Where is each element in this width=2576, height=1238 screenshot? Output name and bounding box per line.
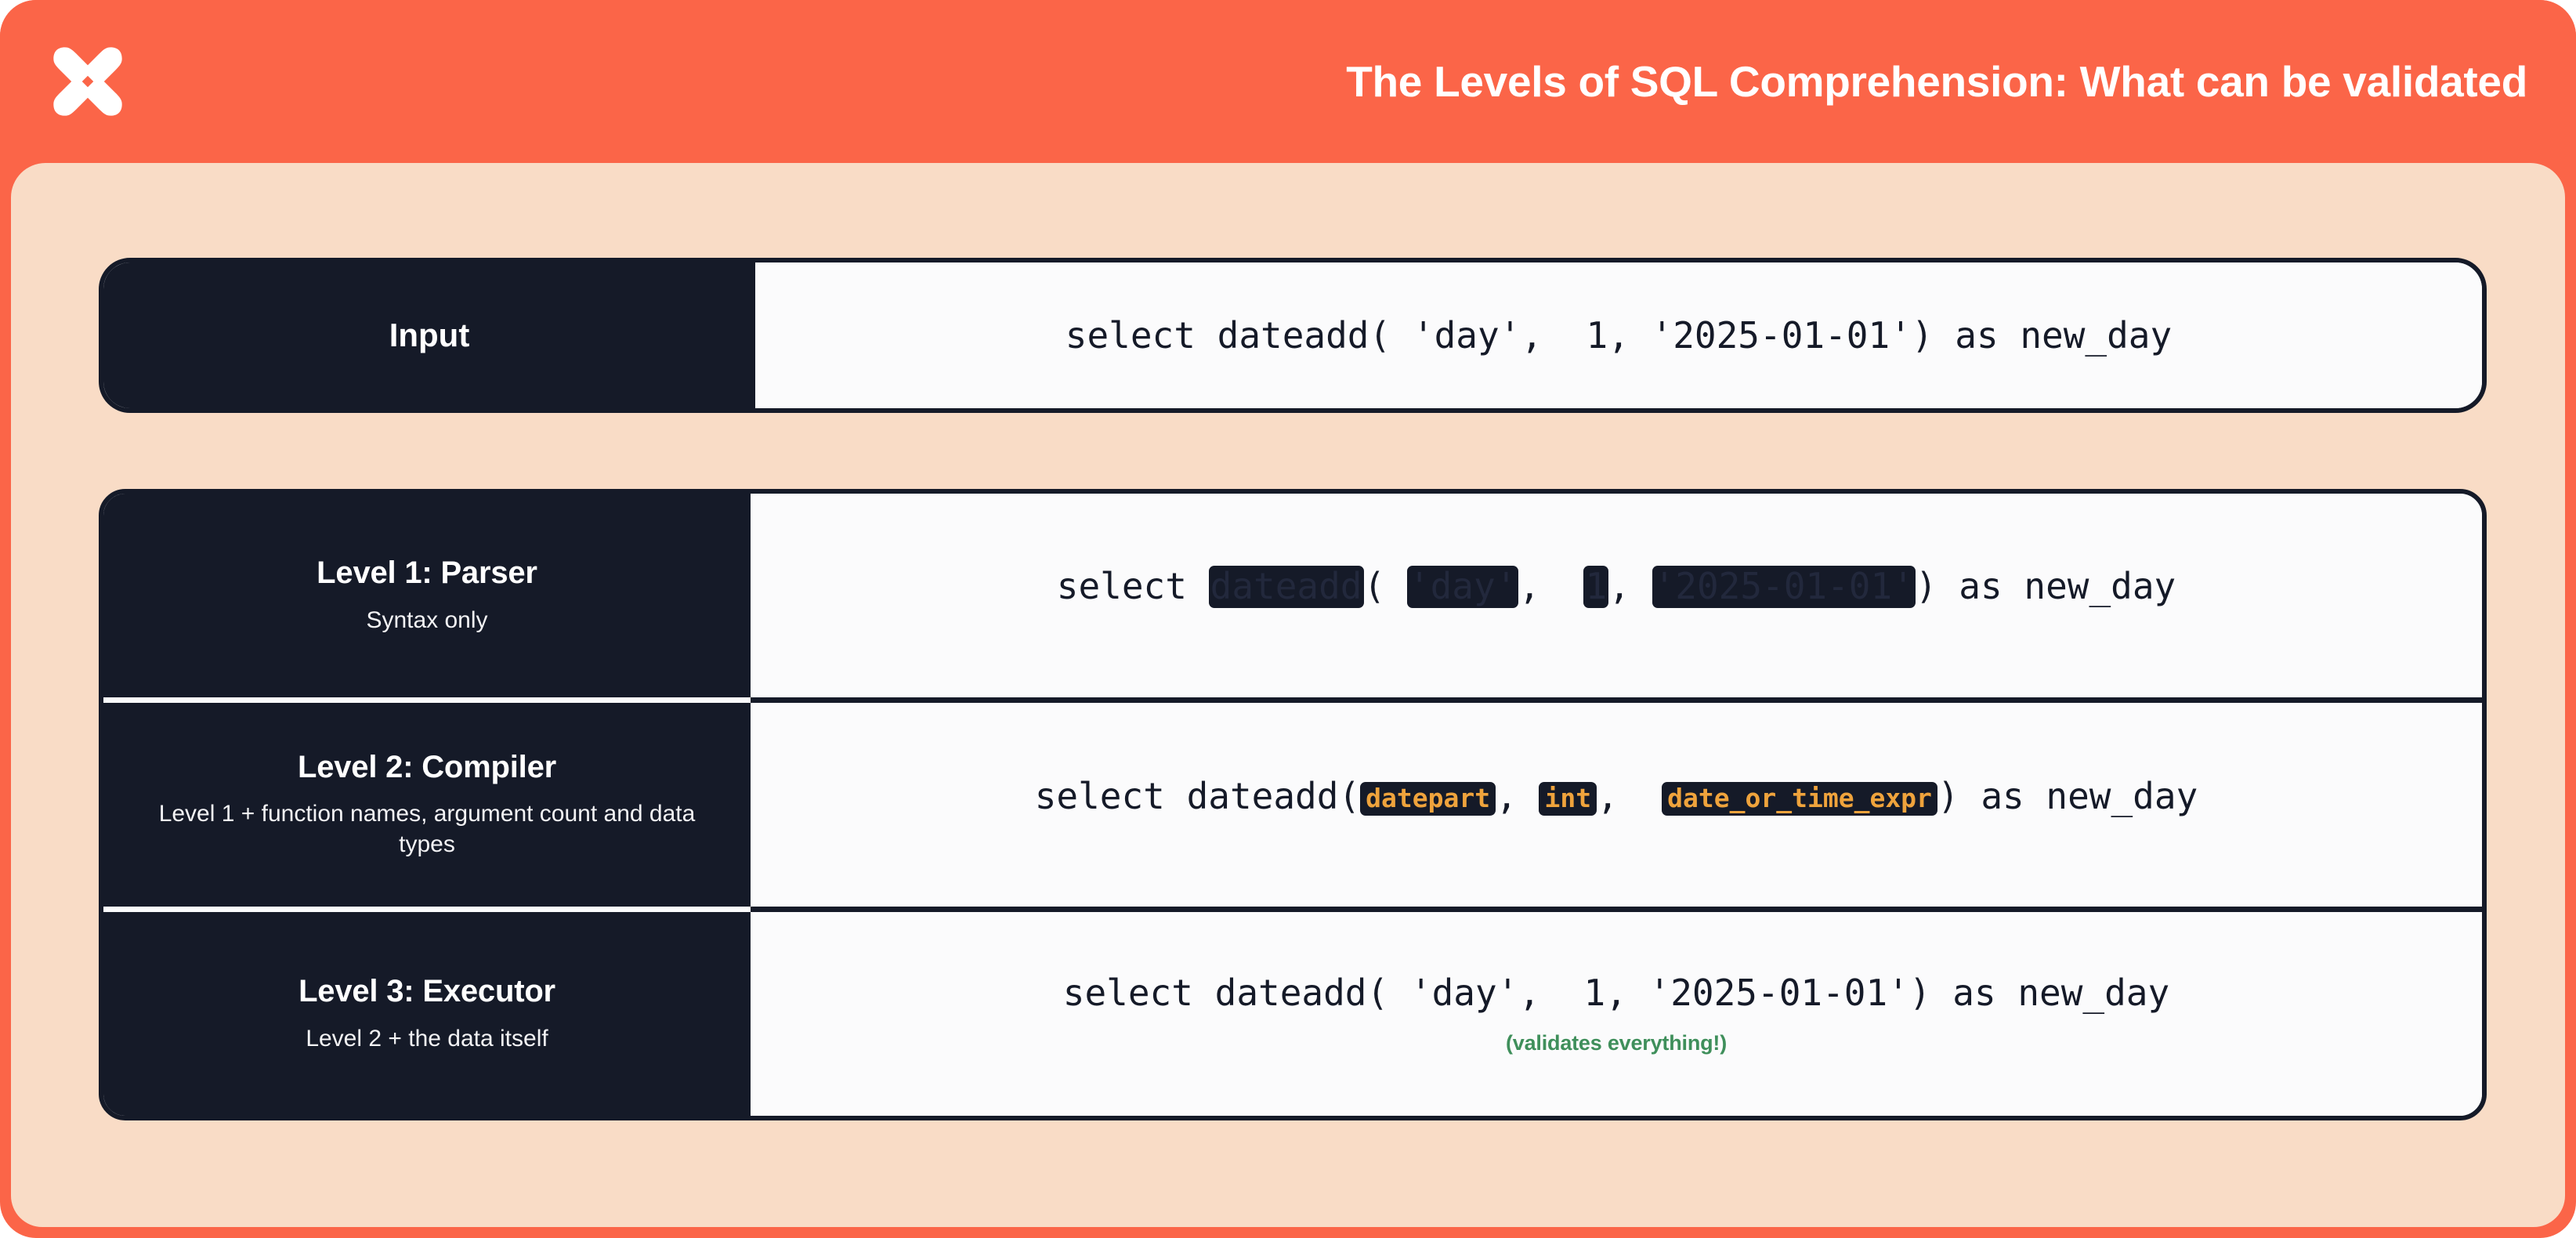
redacted-token: '2025-01-01' [1652,566,1916,608]
code-text: ( [1364,565,1407,607]
input-sql: select dateadd( 'day', 1, '2025-01-01') … [1065,315,2172,357]
redacted-token: dateadd [1209,566,1364,608]
level-1-code-area: select dateadd( 'day', 1, '2025-01-01') … [751,494,2482,697]
input-card: Input select dateadd( 'day', 1, '2025-01… [99,258,2487,413]
redacted-token: 1 [1583,566,1608,608]
code-text: ) as new_day [1916,565,2176,607]
code-text: , [1496,775,1539,817]
input-code-area: select dateadd( 'day', 1, '2025-01-01') … [755,262,2482,408]
x-star-logo-icon [45,39,130,124]
input-label: Input [103,262,755,408]
level-1-subtitle: Syntax only [366,605,487,635]
code-text: select dateadd( [1035,775,1360,817]
code-text: ) as new_day [1937,775,2198,817]
level-1-title: Level 1: Parser [317,556,537,591]
level-2-title: Level 2: Compiler [298,750,556,785]
code-text: select dateadd( 'day', 1, '2025-01-01') … [1063,972,2169,1014]
typed-token: datepart [1360,782,1496,816]
infographic-root: The Levels of SQL Comprehension: What ca… [0,0,2576,1238]
level-3-label: Level 3: Executor Level 2 + the data its… [103,907,751,1116]
code-text: , [1608,565,1652,607]
code-text: select [1057,565,1209,607]
levels-card: Level 1: Parser Syntax only select datea… [99,489,2487,1120]
level-row-1: Level 1: Parser Syntax only select datea… [103,494,2482,697]
code-text: select dateadd( 'day', 1, '2025-01-01') … [1065,314,2172,357]
body-panel: Input select dateadd( 'day', 1, '2025-01… [11,163,2565,1227]
level-1-label: Level 1: Parser Syntax only [103,494,751,697]
outer-frame: The Levels of SQL Comprehension: What ca… [0,0,2576,1238]
level-3-code-area: select dateadd( 'day', 1, '2025-01-01') … [751,912,2482,1116]
level-2-code-area: select dateadd(datepart, int, date_or_ti… [751,703,2482,907]
level-row-3: Level 3: Executor Level 2 + the data its… [103,907,2482,1116]
code-text: , [1518,565,1583,607]
code-text: , [1597,775,1662,817]
redacted-token: 'day' [1407,566,1518,608]
typed-token: date_or_time_expr [1662,782,1937,816]
typed-token: int [1539,782,1597,816]
level-3-subtitle: Level 2 + the data itself [306,1023,548,1054]
level-1-sql: select dateadd( 'day', 1, '2025-01-01') … [1057,566,2176,608]
level-3-title: Level 3: Executor [298,974,555,1009]
level-3-sql: select dateadd( 'day', 1, '2025-01-01') … [1063,972,2169,1014]
level-3-note: (validates everything!) [1506,1031,1727,1055]
level-2-label: Level 2: Compiler Level 1 + function nam… [103,697,751,907]
header-bar: The Levels of SQL Comprehension: What ca… [0,0,2576,163]
level-row-2: Level 2: Compiler Level 1 + function nam… [103,697,2482,907]
level-2-sql: select dateadd(datepart, int, date_or_ti… [1035,776,2198,817]
page-title: The Levels of SQL Comprehension: What ca… [1346,56,2527,107]
level-2-subtitle: Level 1 + function names, argument count… [130,798,724,860]
